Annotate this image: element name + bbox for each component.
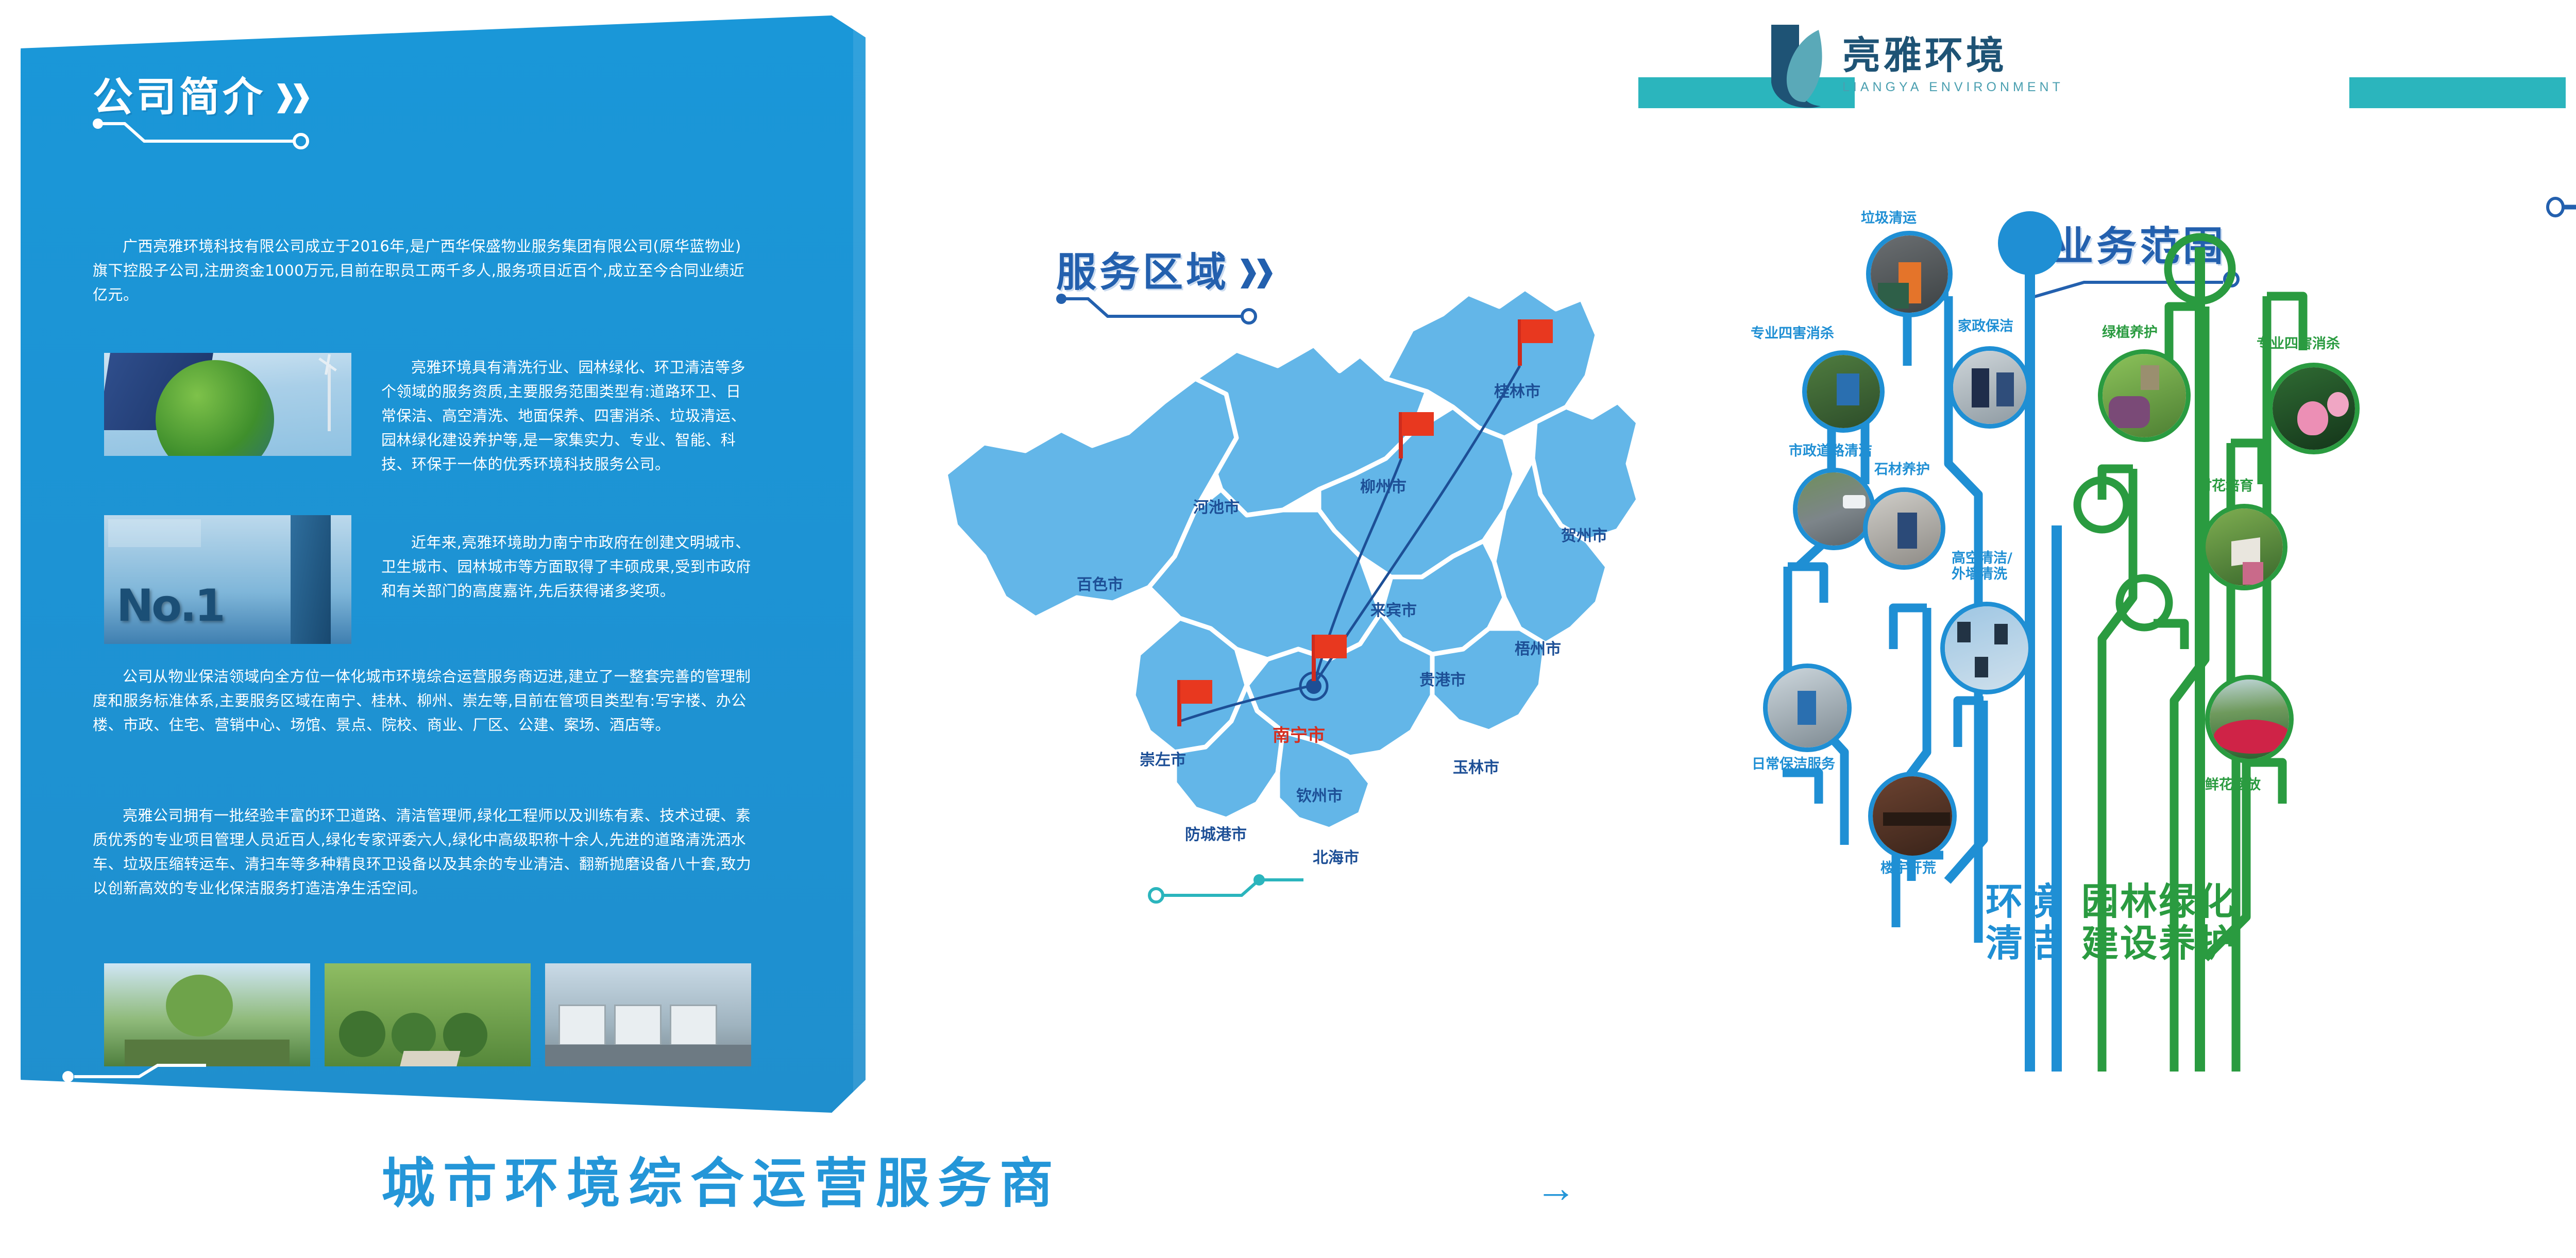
sanitation-truck-fleet-photo [545,963,751,1066]
park-landscape-photo [104,963,310,1066]
map-flag-guilin [1518,319,1522,366]
green-earth-solar-wind-photo [104,353,351,456]
teal-accent-bar-right [2349,77,2566,108]
city-label-hechi: 河池市 [1193,495,1240,517]
brand-name-en: LIANGYA ENVIRONMENT [1842,80,2064,95]
city-label-nanning: 南宁市 [1273,721,1325,746]
road-cleaning-photo [1793,468,1875,550]
city-label-yulin: 玉林市 [1453,755,1499,777]
company-profile-header: 公司简介 [93,77,309,146]
city-label-liuzhou: 柳州市 [1360,474,1406,497]
leaf-label-garbage-collection: 垃圾清运 [1861,210,1917,226]
guangxi-map: 桂林市 柳州市 河池市 贺州市 百色市 来宾市 梧州市 贵港市 南宁市 崇左市 … [907,268,1721,989]
wave-leaf-mark-icon [1767,21,1829,111]
trimmed-hedges-photo [325,963,531,1066]
guangxi-map-svg [907,268,1721,989]
heading-underline [93,120,309,146]
city-label-guigang: 贵港市 [1419,667,1466,690]
city-label-qinzhou: 钦州市 [1296,783,1343,806]
leaf-label-lotus-pest-control: 专业四害消杀 [2257,336,2340,352]
brand-logo: 亮雅环境 LIANGYA ENVIRONMENT [1767,21,2064,111]
stone-care-photo [1863,487,1945,570]
city-label-fangchenggang: 防城港市 [1185,822,1247,844]
panel-decor-line [62,1061,216,1090]
no1-award-photo: No.1 [104,515,351,644]
business-scope-tree: 垃圾清运 专业四害消杀 家政保洁 市政道路清洁 石材养护 高空清洁/ 外墙清洗 [1741,196,2421,1082]
city-label-hezhou: 贺州市 [1561,523,1607,546]
lotus-flower-photo [2268,363,2360,454]
leaf-label-road-cleaning: 市政道路清洁 [1789,443,1872,459]
housekeeping-photo [1948,346,2031,429]
leaf-label-seasonal-flower: 时花培育 [2198,478,2253,494]
trunk-title-environment-cleaning: 环境 清洁 [1986,881,2063,964]
city-label-wuzhou: 梧州市 [1515,636,1561,659]
city-label-chongzuo: 崇左市 [1140,747,1186,770]
leaf-label-daily-cleaning: 日常保洁服务 [1752,756,1835,772]
map-flag-nanning [1312,635,1316,681]
leaf-label-flower-display: 鲜花摆放 [2205,777,2261,793]
leaf-label-plant-maintenance: 绿植养护 [2102,325,2158,341]
company-paragraph-3: 近年来,亮雅环境助力南宁市政府在创建文明城市、卫生城市、园林城市等方面取得了丰硕… [381,531,752,603]
trunk-title-landscape-greening: 园林绿化 建设养护 [2081,881,2236,964]
company-paragraph-4: 公司从物业保洁领域向全方位一体化城市环境综合运营服务商迈进,建立了一整套完善的管… [93,665,757,737]
seasonal-flower-photo [2201,504,2287,590]
bottom-banner: 城市环境综合运营服务商 → [0,1103,2576,1258]
leaf-label-stone-care: 石材养护 [1874,462,1930,478]
leaf-label-building-rough-clean: 楼宇开荒 [1880,860,1936,876]
map-flag-liuzhou [1399,412,1403,458]
city-label-baise: 百色市 [1077,572,1123,594]
flower-display-photo [2205,675,2294,763]
arrow-right-icon: → [1535,1164,1577,1212]
plant-maintenance-photo [2098,349,2191,442]
daily-cleaning-photo [1763,664,1852,752]
pest-control-photo [1802,350,1885,433]
poster-canvas: 公司简介 广西亮雅环境科技有限公司成立于2016年,是广西华保盛物业服务集团有限… [0,0,2576,1258]
leaf-label-pest-control: 专业四害消杀 [1751,326,1834,342]
map-flag-chongzuo [1177,680,1181,726]
company-paragraph-5: 亮雅公司拥有一批经验丰富的环卫道路、清洁管理师,绿化工程师以及训练有素、技术过硬… [93,804,757,900]
garbage-collection-photo [1866,231,1953,317]
leaf-label-housekeeping: 家政保洁 [1958,318,2013,334]
company-heading-text: 公司简介 [93,77,266,117]
company-paragraph-1: 广西亮雅环境科技有限公司成立于2016年,是广西华保盛物业服务集团有限公司(原华… [93,234,752,307]
double-chevron-right-icon [277,83,309,113]
building-rough-clean-photo [1868,772,1957,860]
leaf-label-facade-cleaning: 高空清洁/ 外墙清洗 [1952,550,2012,582]
city-label-beihai: 北海市 [1313,845,1359,868]
brand-text-block: 亮雅环境 LIANGYA ENVIRONMENT [1842,37,2064,95]
city-label-laibin: 来宾市 [1370,598,1417,620]
company-paragraph-2: 亮雅环境具有清洗行业、园林绿化、环卫清洁等多个领域的服务资质,主要服务范围类型有… [381,355,752,477]
banner-slogan: 城市环境综合运营服务商 [381,1140,1061,1217]
brand-name-cn: 亮雅环境 [1842,37,2064,75]
facade-cleaning-photo [1940,602,2033,694]
company-heading-row: 公司简介 [93,77,309,117]
city-label-guilin: 桂林市 [1494,379,1540,401]
